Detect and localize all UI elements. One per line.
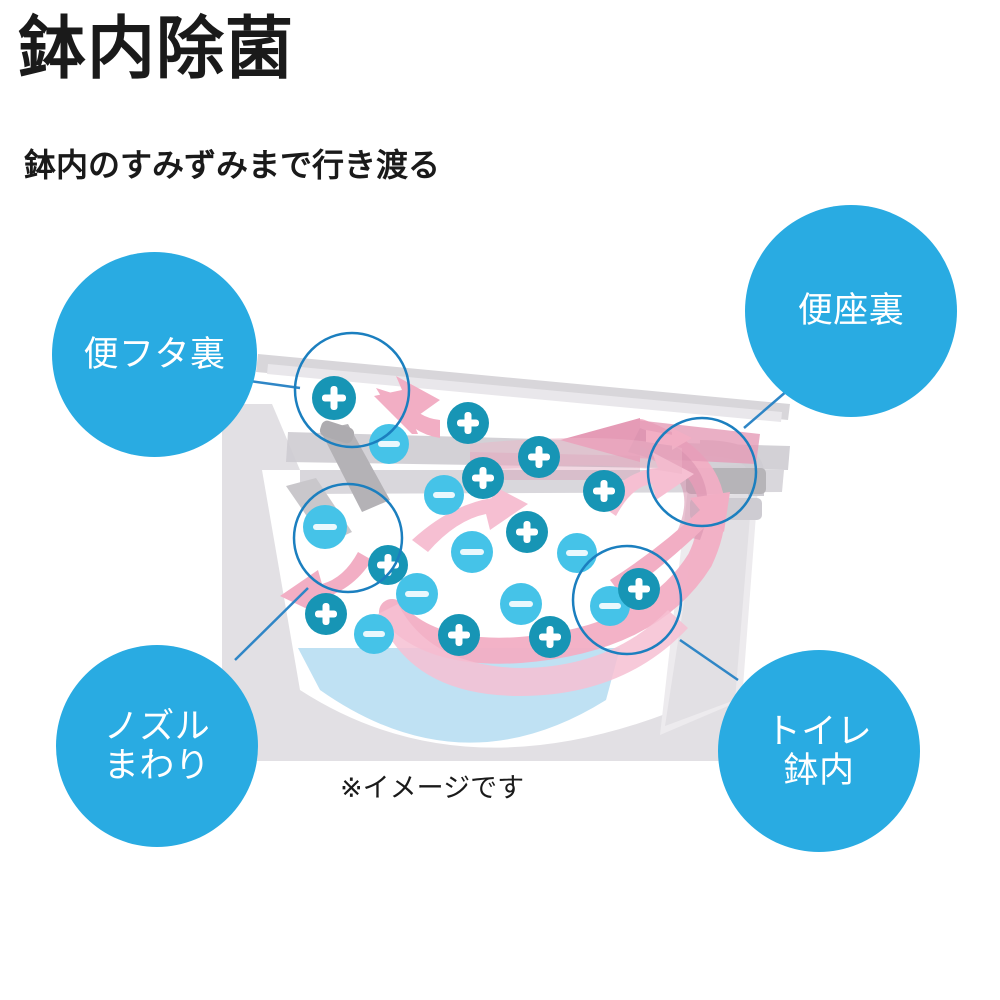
callout-bowl-label-line1: トイレ xyxy=(766,712,873,751)
callout-seat-underside[interactable]: 便座裏 xyxy=(745,205,957,417)
infographic-root: 鉢内除菌 鉢内のすみずみまで行き渡る xyxy=(0,0,1000,1000)
image-disclaimer-caption: ※イメージです xyxy=(340,766,524,805)
callout-around-nozzle[interactable]: ノズル まわり xyxy=(56,645,258,847)
callout-bowl-label: トイレ 鉢内 xyxy=(766,712,873,790)
callout-bowl-label-line2: 鉢内 xyxy=(766,751,873,790)
callout-toilet-bowl[interactable]: トイレ 鉢内 xyxy=(718,650,920,852)
callout-nozzle-label-line2: まわり xyxy=(104,746,211,785)
callout-seat-label: 便座裏 xyxy=(798,291,905,330)
callout-lid-underside[interactable]: 便フタ裏 xyxy=(52,252,257,457)
toilet-ion-diagram xyxy=(0,0,1000,1000)
callout-lid-label: 便フタ裏 xyxy=(83,335,225,374)
callout-nozzle-label: ノズル まわり xyxy=(104,707,211,785)
callout-nozzle-label-line1: ノズル xyxy=(104,707,211,746)
